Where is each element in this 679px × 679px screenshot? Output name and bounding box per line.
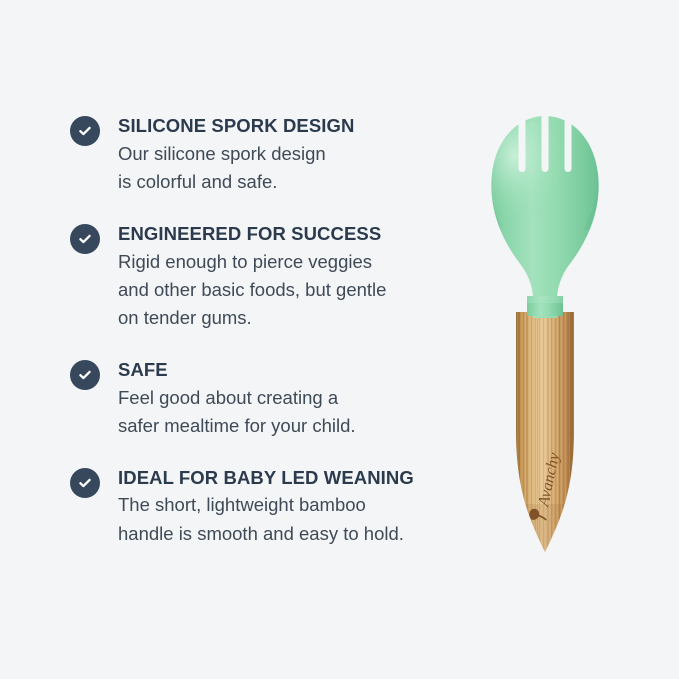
feature-title: IDEAL FOR BABY LED WEANING (118, 466, 470, 490)
feature-item: IDEAL FOR BABY LED WEANING The short, li… (70, 466, 470, 548)
feature-title: ENGINEERED FOR SUCCESS (118, 222, 470, 246)
check-circle-icon (70, 468, 100, 498)
feature-description: Our silicone spork design is colorful an… (118, 140, 470, 196)
feature-title: SILICONE SPORK DESIGN (118, 114, 470, 138)
feature-description-line: The short, lightweight bamboo (118, 491, 470, 519)
feature-item: SILICONE SPORK DESIGN Our silicone spork… (70, 114, 470, 196)
feature-description-line: Feel good about creating a (118, 384, 470, 412)
feature-description-line: on tender gums. (118, 304, 470, 332)
feature-list: SILICONE SPORK DESIGN Our silicone spork… (70, 114, 470, 548)
feature-description-line: Rigid enough to pierce veggies (118, 248, 470, 276)
feature-item: SAFE Feel good about creating a safer me… (70, 358, 470, 440)
feature-description-line: and other basic foods, but gentle (118, 276, 470, 304)
feature-description: Feel good about creating a safer mealtim… (118, 384, 470, 440)
feature-item: ENGINEERED FOR SUCCESS Rigid enough to p… (70, 222, 470, 332)
feature-description-line: safer mealtime for your child. (118, 412, 470, 440)
product-feature-infographic: SILICONE SPORK DESIGN Our silicone spork… (0, 0, 679, 679)
product-image-spork: Avanchy (455, 100, 635, 580)
feature-description-line: is colorful and safe. (118, 168, 470, 196)
spork-bamboo-handle: Avanchy (513, 310, 577, 556)
check-circle-icon (70, 224, 100, 254)
feature-description: The short, lightweight bamboo handle is … (118, 491, 470, 547)
feature-description-line: handle is smooth and easy to hold. (118, 520, 470, 548)
spork-silicone-head (483, 110, 601, 318)
feature-description: Rigid enough to pierce veggies and other… (118, 248, 470, 332)
check-circle-icon (70, 360, 100, 390)
feature-title: SAFE (118, 358, 470, 382)
feature-description-line: Our silicone spork design (118, 140, 470, 168)
check-circle-icon (70, 116, 100, 146)
